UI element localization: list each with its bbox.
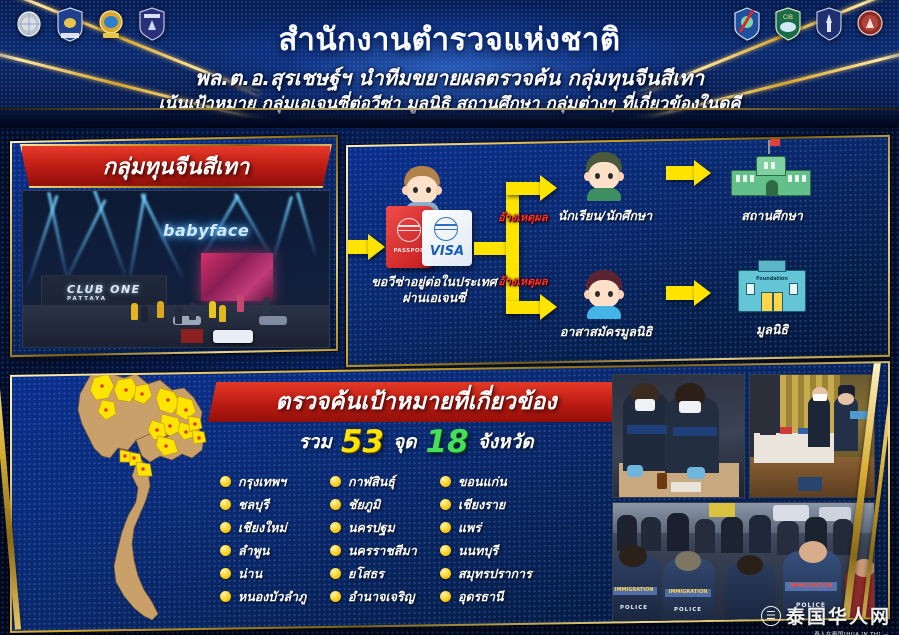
thailand-province-map [32,370,217,626]
bullet-dot-icon [330,568,341,579]
officer-figure [157,301,164,318]
evidence-collection-photo [612,374,745,498]
provinces-unit: จังหวัด [478,427,534,457]
parked-car [259,316,287,325]
officer-figure [237,295,244,312]
club-one-sign-subtext: PATTAYA [67,296,141,302]
officer-figure [175,307,182,324]
province-item: นครปฐม [330,516,417,539]
branch-1-actor-label: นักเรียน/นักศึกษา [544,208,666,224]
province-item: สมุทรปราการ [440,562,532,585]
flow-diagram-panel: PASSPORT VISA ขอวีซ่าอยู่ต่อในประเทศ ผ่า… [346,135,890,367]
inbound-arrow-stem [346,240,370,254]
header-bottom-band [0,108,899,128]
neon-beam [272,196,293,260]
bullet-dot-icon [220,591,231,602]
neon-beam [127,193,146,287]
branch-1-reason-label: อ้างเหตุผล [498,208,548,226]
bullet-dot-icon [330,476,341,487]
branch-top-horizontal [506,182,542,195]
immigration-bureau-badge-icon [812,4,846,44]
branch-trunk-vertical [506,182,519,314]
royal-thai-police-emblem-icon [12,4,46,44]
badge-group-right: CIB [730,4,887,44]
metropolitan-police-shield-icon [53,4,87,44]
cib-badge-icon: CIB [771,4,805,44]
neon-beam [296,192,317,256]
neon-beam [93,190,128,280]
province-item: อำนาจเจริญ [330,585,417,608]
uniform-immigration-text: IMMIGRATION [612,587,657,593]
watermark: ☰ 泰国华人网 泰人在泰国[HUA.IN.TH] — [761,602,891,629]
branch-top-arrow-head [540,175,557,201]
search-summary-counts: รวม 53 จุด 18 จังหวัด [208,424,624,460]
hua-in-th-logo-icon: ☰ [761,606,781,626]
infographic-canvas: สำนักงานตำรวจแห่งชาติ พล.ต.อ.สุรเชษฐ์ฯ น… [0,0,899,635]
locations-unit: จุด [393,427,416,457]
bullet-dot-icon [440,499,451,510]
province-item: หนองบัวลำภู [220,585,306,608]
officer-figure [141,306,148,323]
branch-2-target-label: มูลนิธิ [720,322,824,338]
province-item: ขอนแก่น [440,470,532,493]
watermark-subtext: 泰人在泰国[HUA.IN.TH] — [814,630,889,635]
province-item: เชียงใหม่ [220,516,306,539]
police-car [213,330,253,343]
province-item: ยโสธร [330,562,417,585]
student-avatar-icon [582,152,626,200]
province-item: ลำพูน [220,539,306,562]
branch-2-actor-label: อาสาสมัครมูลนิธิ [540,324,672,340]
branch-bottom-arrow-head [540,294,557,320]
volunteer-avatar-icon [582,270,626,318]
bullet-dot-icon [440,522,451,533]
red-barrier [181,329,203,343]
bullet-dot-icon [330,591,341,602]
province-item: นครราชสีมา [330,539,417,562]
club-one-sign-text: CLUB ONE [67,283,141,296]
bullet-dot-icon [220,522,231,533]
search-summary-panel: ตรวจค้นเป้าหมายที่เกี่ยวข้อง รวม 53 จุด … [10,361,890,633]
visa-label: VISA [422,244,472,259]
bullet-dot-icon [330,499,341,510]
summary-prefix: รวม [298,427,331,457]
bullet-dot-icon [220,476,231,487]
uniform-police-text: POLICE [612,605,657,611]
branch-2-target-arrow-head [694,280,711,306]
source-caption: ขอวีซ่าอยู่ต่อในประเทศ ผ่านเอเจนซี่ [354,274,514,305]
bullet-dot-icon [440,568,451,579]
police-division-shield-icon [135,4,169,44]
province-item: นนทบุรี [440,539,532,562]
officer-figure [251,293,258,310]
badge-group-left [12,4,169,44]
bullet-dot-icon [440,591,451,602]
province-item: กาฬสินธุ์ [330,470,417,493]
passport-visa-icon: PASSPORT VISA [386,204,472,270]
babyface-club-sign: babyface [163,221,249,240]
province-item: แพร่ [440,516,532,539]
province-item: เชียงราย [440,493,532,516]
uniform-immigration-text: IMMIGRATION [665,589,711,595]
uniform-immigration-text: IMMIGRATION [785,583,837,589]
bottom-panel-title-ribbon: ตรวจค้นเป้าหมายที่เกี่ยวข้อง [208,382,624,422]
bullet-dot-icon [440,545,451,556]
officer-figure [219,305,226,322]
passport-globe-icon [397,218,421,242]
bullet-dot-icon [330,545,341,556]
province-item: น่าน [220,562,306,585]
province-column-2: กาฬสินธุ์ ชัยภูมิ นครปฐม นครราชสีมา ยโสธ… [330,470,417,608]
province-column-3: ขอนแก่น เชียงราย แพร่ นนทบุรี สมุทรปรากา… [440,470,532,608]
province-column-1: กรุงเทพฯ ชลบุรี เชียงใหม่ ลำพูน น่าน หนอ… [220,470,306,608]
led-stage-screen [201,253,273,301]
left-photo-panel: กลุ่มทุนจีนสีเทา babyface CLUB ONE PATTA… [10,135,338,357]
source-caption-line-2: ผ่านเอเจนซี่ [354,290,514,306]
inbound-arrow-head [368,234,385,260]
foundation-sign-text: Foundation [738,276,806,282]
visa-globe-icon [434,217,458,241]
branch-2-reason-label: อ้างเหตุผล [498,272,548,290]
bullet-dot-icon [330,522,341,533]
neon-beam [47,192,70,286]
branch-1-target-label: สถานศึกษา [720,208,824,224]
officer-figure [263,297,270,314]
province-item: ชลบุรี [220,493,306,516]
branch-1-target-arrow-head [694,160,711,186]
officer-figure [209,301,216,318]
tourist-police-badge-icon [730,4,764,44]
club-one-sign: CLUB ONE PATTAYA [67,283,141,302]
police-academy-badge-icon [853,4,887,44]
bullet-dot-icon [220,568,231,579]
left-panel-title-ribbon: กลุ่มทุนจีนสีเทา [20,144,332,188]
locations-count: 53 [341,424,384,460]
provinces-count: 18 [425,424,468,460]
province-item: อุดรธานี [440,585,532,608]
room-search-photo [749,374,875,498]
nightclub-raid-photo: babyface CLUB ONE PATTAYA [22,190,330,348]
officer-figure [189,303,196,320]
bullet-dot-icon [440,476,451,487]
province-item: ชัยภูมิ [330,493,417,516]
provincial-police-emblem-icon [94,4,128,44]
province-item: กรุงเทพฯ [220,470,306,493]
left-panel-title: กลุ่มทุนจีนสีเทา [103,148,250,183]
uniform-police-text: POLICE [665,607,711,613]
school-building-icon [730,146,812,198]
branch-2-target-arrow-stem [666,286,696,300]
officer-figure [131,303,138,320]
watermark-text: 泰国华人网 [786,606,891,628]
branch-1-target-arrow-stem [666,166,696,180]
bottom-panel-title: ตรวจค้นเป้าหมายที่เกี่ยวข้อง [276,384,557,420]
foundation-building-icon: Foundation [738,260,806,314]
header-banner: สำนักงานตำรวจแห่งชาติ พล.ต.อ.สุรเชษฐ์ฯ น… [0,0,899,128]
branch-bottom-horizontal [506,301,542,314]
svg-text:CIB: CIB [783,14,793,21]
bullet-dot-icon [220,545,231,556]
source-caption-line-1: ขอวีซ่าอยู่ต่อในประเทศ [354,274,514,290]
bullet-dot-icon [220,499,231,510]
